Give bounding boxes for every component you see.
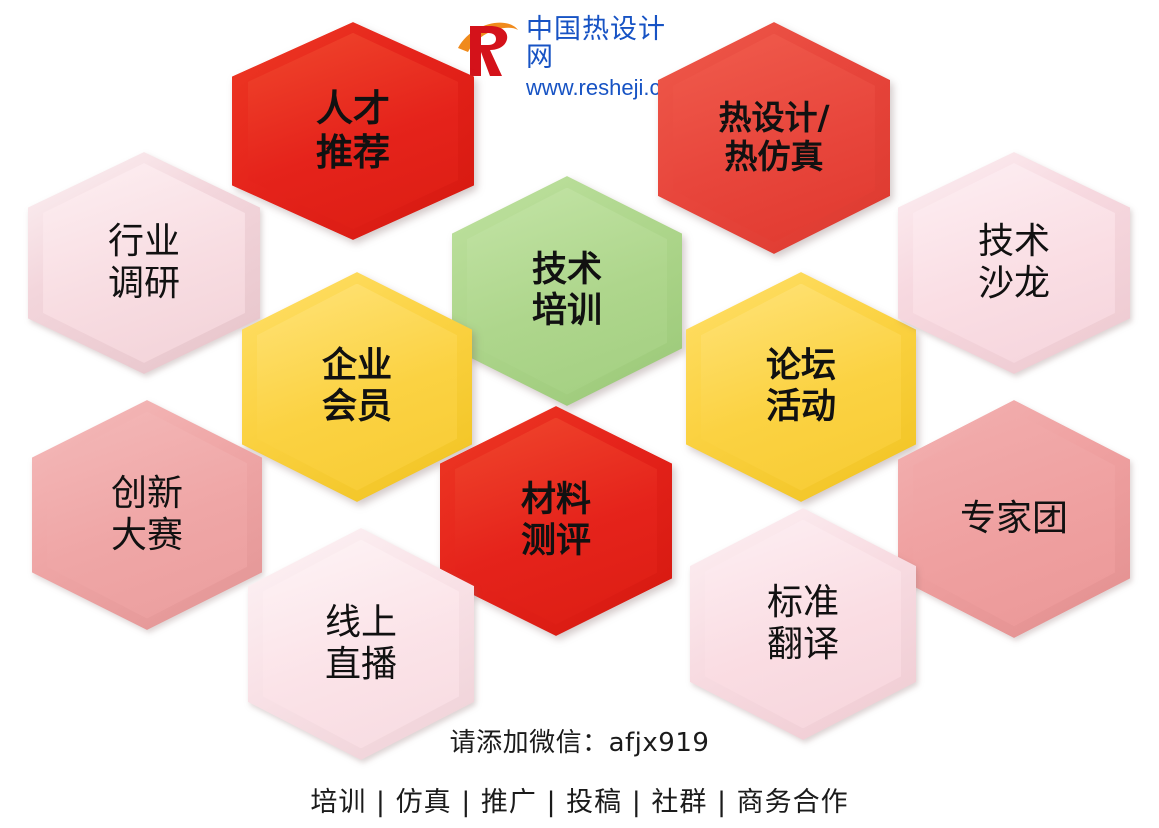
hex-cailiao-ceping[interactable]: 材料 测评 — [440, 406, 672, 636]
service-nav-text: 培训 | 仿真 | 推广 | 投稿 | 社群 | 商务合作 — [0, 780, 1159, 819]
hex-rencai-tuijian[interactable]: 人才 推荐 — [232, 22, 474, 240]
hex-qiye-huiyuan[interactable]: 企业 会员 — [242, 272, 472, 502]
hex-reshe-fangzhen[interactable]: 热设计/ 热仿真 — [658, 22, 890, 254]
hex-biaozhun-fanyi[interactable]: 标准 翻译 — [690, 508, 916, 740]
hex-zhuanjia-tuan[interactable]: 专家团 — [898, 400, 1130, 638]
hex-hangye-diaoyan[interactable]: 行业 调研 — [28, 152, 260, 374]
hex-luntan-huodong[interactable]: 论坛 活动 — [686, 272, 916, 502]
hex-jishu-peixun[interactable]: 技术 培训 — [452, 176, 682, 406]
hex-chuangxin-dasai[interactable]: 创新 大赛 — [32, 400, 262, 630]
site-logo[interactable]: 中国热设计网 www.resheji.com — [452, 14, 692, 92]
hex-jishu-shalong[interactable]: 技术 沙龙 — [898, 152, 1130, 374]
wechat-contact-text: 请添加微信：afjx919 — [0, 722, 1159, 759]
poster-canvas: 中国热设计网 www.resheji.com 人才 推荐 热设计/ 热仿真 行业… — [0, 0, 1159, 828]
